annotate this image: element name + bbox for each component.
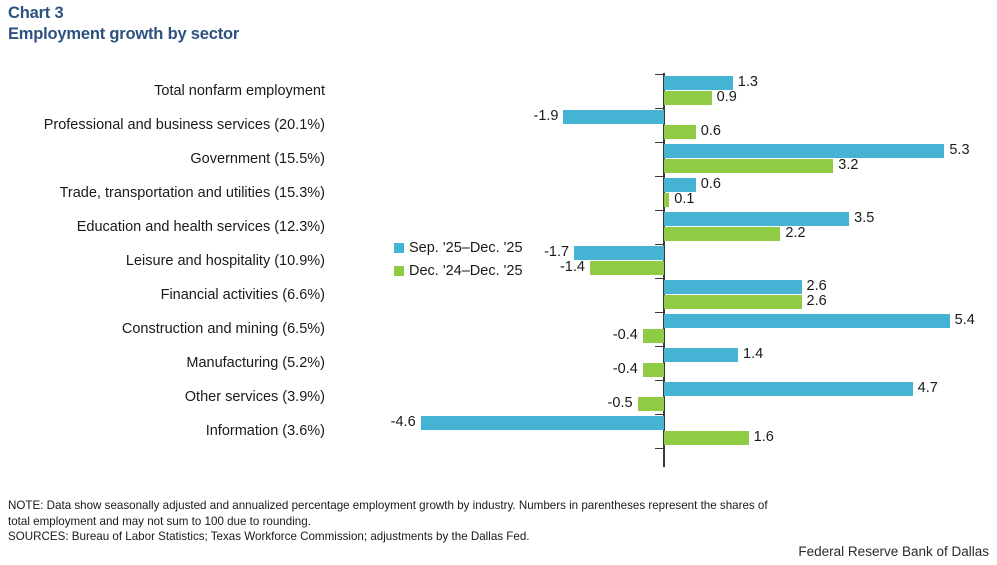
legend-label: Sep. '25–Dec. '25 <box>409 240 523 256</box>
bar-1 <box>664 125 696 139</box>
bar-0 <box>574 246 664 260</box>
table-row: Manufacturing (5.2%)1.4-0.4 <box>0 347 997 381</box>
bar-value-label: 0.6 <box>701 124 721 138</box>
page-title: Employment growth by sector <box>8 24 608 45</box>
bar-1 <box>638 397 664 411</box>
bar-1 <box>643 363 664 377</box>
bar-group: -1.90.6 <box>0 109 997 143</box>
table-row: Government (15.5%)5.33.2 <box>0 143 997 177</box>
institution-credit: Federal Reserve Bank of Dallas <box>0 544 989 559</box>
table-row: Trade, transportation and utilities (15.… <box>0 177 997 211</box>
bar-1 <box>664 193 669 207</box>
table-row: Financial activities (6.6%)2.62.6 <box>0 279 997 313</box>
note-line-1: NOTE: Data show seasonally adjusted and … <box>8 498 989 514</box>
legend-item-0: Sep. '25–Dec. '25 <box>394 236 569 259</box>
bar-value-label: -1.9 <box>533 109 558 123</box>
chart-header: Chart 3 Employment growth by sector <box>8 3 608 45</box>
table-row: Professional and business services (20.1… <box>0 109 997 143</box>
bar-value-label: -0.5 <box>608 396 633 410</box>
bar-value-label: 2.2 <box>785 226 805 240</box>
chart-legend: Sep. '25–Dec. '25Dec. '24–Dec. '25 <box>394 236 569 282</box>
bar-group: 2.62.6 <box>0 279 997 313</box>
bar-1 <box>664 91 712 105</box>
bar-value-label: 2.6 <box>807 294 827 308</box>
chart-footnotes: NOTE: Data show seasonally adjusted and … <box>8 498 989 545</box>
bar-value-label: 1.4 <box>743 347 763 361</box>
bar-value-label: 3.2 <box>838 158 858 172</box>
bar-group: 5.4-0.4 <box>0 313 997 347</box>
legend-label: Dec. '24–Dec. '25 <box>409 263 523 279</box>
legend-swatch-icon <box>394 266 404 276</box>
bar-value-label: 0.6 <box>701 177 721 191</box>
bar-0 <box>664 314 950 328</box>
bar-value-label: 5.4 <box>955 313 975 327</box>
table-row: Other services (3.9%)4.7-0.5 <box>0 381 997 415</box>
table-row: Information (3.6%)-4.61.6 <box>0 415 997 449</box>
bar-0 <box>664 76 733 90</box>
legend-item-1: Dec. '24–Dec. '25 <box>394 259 569 282</box>
note-line-2: total employment and may not sum to 100 … <box>8 514 989 530</box>
bar-value-label: 2.6 <box>807 279 827 293</box>
bar-group: 5.33.2 <box>0 143 997 177</box>
bar-value-label: 5.3 <box>949 143 969 157</box>
bar-1 <box>590 261 664 275</box>
bar-0 <box>664 144 944 158</box>
bar-0 <box>664 178 696 192</box>
bar-0 <box>664 382 913 396</box>
bar-value-label: -0.4 <box>613 362 638 376</box>
bar-value-label: -4.6 <box>391 415 416 429</box>
bar-group: 0.60.1 <box>0 177 997 211</box>
table-row: Total nonfarm employment1.30.9 <box>0 75 997 109</box>
bar-value-label: 1.6 <box>754 430 774 444</box>
bar-1 <box>664 295 802 309</box>
bar-group: 4.7-0.5 <box>0 381 997 415</box>
bar-1 <box>664 431 749 445</box>
table-row: Construction and mining (6.5%)5.4-0.4 <box>0 313 997 347</box>
bar-0 <box>421 416 664 430</box>
legend-swatch-icon <box>394 243 404 253</box>
bar-1 <box>664 227 780 241</box>
bar-value-label: 4.7 <box>918 381 938 395</box>
bar-value-label: -0.4 <box>613 328 638 342</box>
bar-0 <box>664 212 849 226</box>
bar-group: 1.30.9 <box>0 75 997 109</box>
chart-number: Chart 3 <box>8 3 608 24</box>
chart-plot-area: Total nonfarm employment1.30.9Profession… <box>0 66 997 474</box>
bar-0 <box>664 280 802 294</box>
bar-1 <box>643 329 664 343</box>
sources-line: SOURCES: Bureau of Labor Statistics; Tex… <box>8 529 989 545</box>
bar-value-label: 0.9 <box>717 90 737 104</box>
bar-group: 1.4-0.4 <box>0 347 997 381</box>
bar-group: -4.61.6 <box>0 415 997 449</box>
bar-value-label: 1.3 <box>738 75 758 89</box>
bar-value-label: 3.5 <box>854 211 874 225</box>
bar-0 <box>664 348 738 362</box>
bar-1 <box>664 159 833 173</box>
bar-value-label: 0.1 <box>674 192 694 206</box>
bar-0 <box>563 110 664 124</box>
